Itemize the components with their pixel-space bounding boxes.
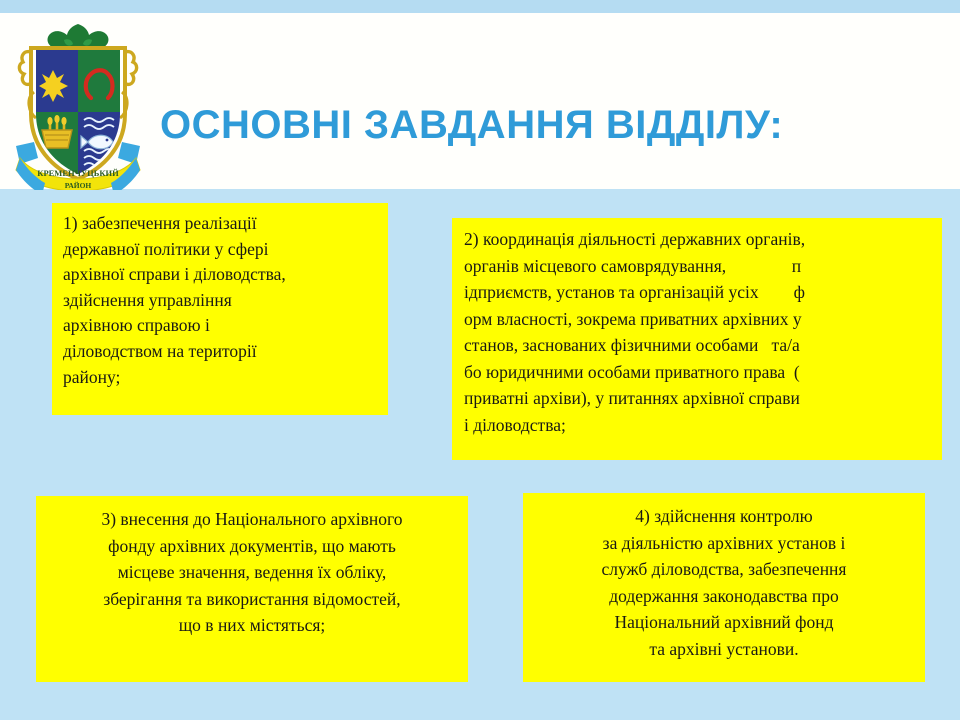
task-3-line-3: місцеве значення, ведення їх обліку, bbox=[44, 559, 460, 586]
task-box-3: 3) внесення до Національного архівного ф… bbox=[36, 496, 468, 682]
task-2-line-5: станов, заснованих фізичними особами та/… bbox=[464, 332, 932, 359]
task-2-line-4: орм власності, зокрема приватних архівни… bbox=[464, 306, 932, 333]
coat-of-arms-emblem: КРЕМЕНЧУЦЬКИЙ РАЙОН bbox=[12, 18, 144, 190]
task-box-2: 2) координація діяльності державних орга… bbox=[452, 218, 942, 460]
task-2-line-7: приватні архіви), у питаннях архівної сп… bbox=[464, 385, 932, 412]
task-2-line-2: органів місцевого самоврядування, п bbox=[464, 253, 932, 280]
task-4-line-1: 4) здійснення контролю bbox=[531, 503, 917, 530]
top-accent-strip bbox=[0, 0, 960, 13]
task-1-line-2: державної політики у сфері bbox=[63, 237, 377, 263]
task-2-line-1: 2) координація діяльності державних орга… bbox=[464, 226, 932, 253]
task-4-line-4: додержання законодавства про bbox=[531, 583, 917, 610]
task-2-line-6: бо юридичними особами приватного права ( bbox=[464, 359, 932, 386]
task-3-line-4: зберігання та використання відомостей, bbox=[44, 586, 460, 613]
task-4-line-2: за діяльністю архівних установ і bbox=[531, 530, 917, 557]
task-4-line-5: Національний архівний фонд bbox=[531, 609, 917, 636]
task-1-line-5: архівною справою і bbox=[63, 313, 377, 339]
ribbon-lower-text: РАЙОН bbox=[65, 181, 92, 190]
task-2-line-3: ідприємств, установ та організацій усіх … bbox=[464, 279, 932, 306]
task-3-line-1: 3) внесення до Національного архівного bbox=[44, 506, 460, 533]
task-1-line-4: здійснення управління bbox=[63, 288, 377, 314]
shield-quarters bbox=[36, 50, 120, 182]
task-1-line-1: 1) забезпечення реалізації bbox=[63, 211, 377, 237]
task-1-line-3: архівної справи і діловодства, bbox=[63, 262, 377, 288]
slide-canvas: КРЕМЕНЧУЦЬКИЙ РАЙОН ОСНОВНІ ЗАВДАННЯ ВІД… bbox=[0, 0, 960, 720]
task-1-line-6: діловодством на території bbox=[63, 339, 377, 365]
page-title: ОСНОВНІ ЗАВДАННЯ ВІДДІЛУ: bbox=[160, 99, 920, 151]
task-1-line-7: району; bbox=[63, 365, 377, 391]
task-box-4: 4) здійснення контролю за діяльністю арх… bbox=[523, 493, 925, 682]
task-3-line-5: що в них містяться; bbox=[44, 612, 460, 639]
task-4-line-6: та архівні установи. bbox=[531, 636, 917, 663]
task-3-line-2: фонду архівних документів, що мають bbox=[44, 533, 460, 560]
task-4-line-3: служб діловодства, забезпечення bbox=[531, 556, 917, 583]
ribbon-upper-text: КРЕМЕНЧУЦЬКИЙ bbox=[37, 168, 119, 178]
task-2-line-8: і діловодства; bbox=[464, 412, 932, 439]
task-box-1: 1) забезпечення реалізації державної пол… bbox=[52, 203, 388, 415]
